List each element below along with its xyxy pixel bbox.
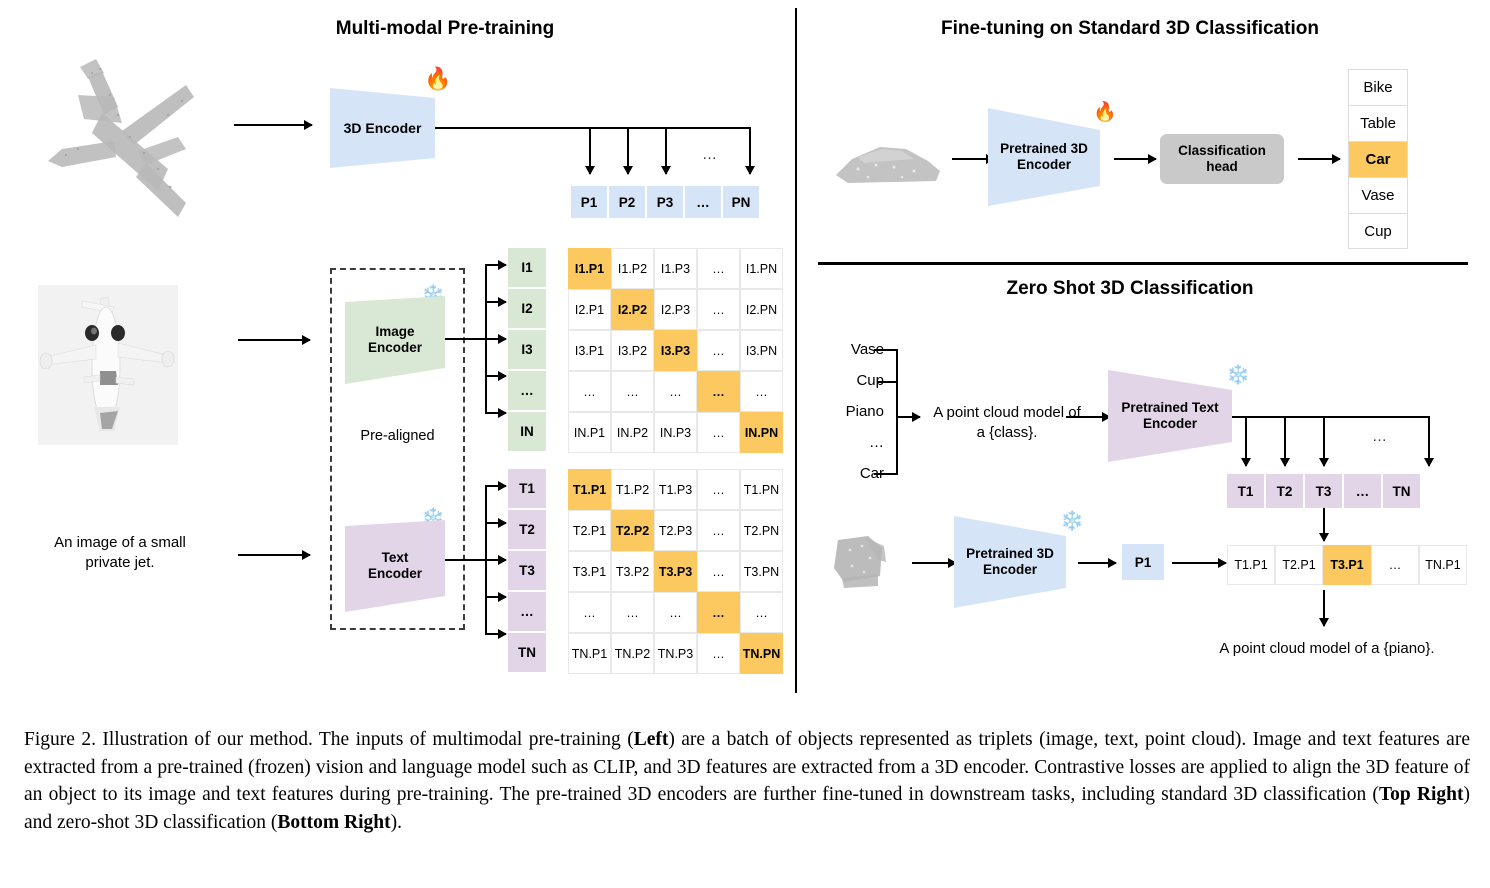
matrix-cell: I1.P1: [568, 248, 611, 289]
matrix-row: I2.P1I2.P2I2.P3…I2.PN: [568, 289, 783, 330]
matrix-cell: IN.P1: [568, 412, 611, 453]
matrix-cell: T2.P3: [654, 510, 697, 551]
matrix-cell: I2.P1: [568, 289, 611, 330]
matrix-cell: IN.PN: [740, 412, 783, 453]
figure-caption: Figure 2. Illustration of our method. Th…: [24, 726, 1470, 837]
text-caption-line1: An image of a small: [54, 534, 186, 551]
point-token-row: P1P2P3…PN: [571, 186, 761, 218]
text-similarity-matrix: T1.P1T1.P2T1.P3…T1.PNT2.P1T2.P2T2.P3…T2.…: [568, 469, 783, 674]
token-cell: P3: [647, 186, 683, 218]
arrow-to-p1: [589, 127, 591, 174]
matrix-cell: …: [697, 469, 740, 510]
matrix-cell: …: [697, 412, 740, 453]
class-list: BikeTableCarVaseCup: [1348, 69, 1408, 249]
zeroshot-point-token: P1: [1122, 544, 1164, 580]
arrow-to-p3: [665, 127, 667, 174]
panel-divider-horizontal: [818, 262, 1468, 265]
arrow-zs-t2: [1284, 416, 1286, 466]
matrix-row: TN.P1TN.P2TN.P3…TN.PN: [568, 633, 783, 674]
matrix-cell: T1.P1: [568, 469, 611, 510]
token-label-cell: …: [508, 592, 546, 631]
matrix-cell: …: [740, 371, 783, 412]
fire-icon: 🔥: [424, 68, 451, 90]
matrix-cell: I1.P3: [654, 248, 697, 289]
token-cell: P2: [609, 186, 645, 218]
matrix-cell: I3.PN: [740, 330, 783, 371]
similarity-cell: TN.P1: [1419, 545, 1467, 585]
finetune-encoder-label: Pretrained 3DEncoder: [1000, 141, 1088, 172]
matrix-row: T3.P1T3.P2T3.P3…T3.PN: [568, 551, 783, 592]
text-token-column: T1T2T3…TN: [508, 469, 546, 672]
zeroshot-result: A point cloud model of a {piano}.: [1182, 640, 1472, 657]
bus-line-3d: [435, 127, 750, 129]
matrix-row: IN.P1IN.P2IN.P3…IN.PN: [568, 412, 783, 453]
prompt-line1: A point cloud model of: [933, 404, 1081, 421]
arrow-to-pn: [749, 127, 751, 174]
arrow-text-to-encoder: [238, 554, 310, 556]
text-encoder: TextEncoder: [345, 520, 445, 612]
matrix-cell: T3.PN: [740, 551, 783, 592]
matrix-cell: T1.P3: [654, 469, 697, 510]
token-label-cell: TN: [508, 633, 546, 672]
arrow-piano-to-encoder: [912, 562, 956, 564]
zeroshot-text-bus: [1230, 416, 1430, 418]
matrix-cell: I3.P3: [654, 330, 697, 371]
token-label-cell: …: [508, 371, 546, 410]
matrix-cell: …: [697, 248, 740, 289]
matrix-cell: …: [697, 633, 740, 674]
zeroshot-class-list: VaseCupPiano…Car: [828, 334, 884, 489]
arrow-pointcloud-to-encoder: [234, 124, 312, 126]
panel-title-zeroshot: Zero Shot 3D Classification: [830, 278, 1430, 300]
zeroshot-class-item: Piano: [828, 396, 884, 427]
arrow-zs-t1: [1245, 416, 1247, 466]
classification-head-label: Classificationhead: [1178, 143, 1266, 175]
matrix-cell: I3.P1: [568, 330, 611, 371]
panel-divider-vertical: [795, 8, 797, 693]
zeroshot-similarity-row: T1.P1T2.P1T3.P1…TN.P1: [1227, 545, 1467, 585]
matrix-cell: …: [697, 592, 740, 633]
prompt-line2: a {class}.: [977, 424, 1038, 441]
matrix-cell: …: [611, 371, 654, 412]
matrix-row: T1.P1T1.P2T1.P3…T1.PN: [568, 469, 783, 510]
ellipsis-p-arrows: …: [702, 146, 718, 163]
matrix-row: ……………: [568, 592, 783, 633]
caption-part-4: ).: [391, 812, 402, 833]
token-label-cell: I3: [508, 330, 546, 369]
airplane-point-cloud: [18, 45, 233, 235]
matrix-cell: …: [697, 330, 740, 371]
arrow-t1: [485, 485, 506, 487]
matrix-cell: …: [568, 592, 611, 633]
fanout-image-stem: [445, 338, 487, 340]
token-label-cell: T2: [508, 510, 546, 549]
token-cell: T2: [1266, 474, 1303, 508]
matrix-cell: …: [697, 510, 740, 551]
matrix-cell: …: [697, 371, 740, 412]
matrix-cell: I2.PN: [740, 289, 783, 330]
class-bracket-mid: [878, 381, 898, 383]
zeroshot-3d-encoder-label: Pretrained 3DEncoder: [966, 546, 1054, 577]
arrow-t3-to-similarity: [1323, 508, 1325, 541]
matrix-cell: IN.P2: [611, 412, 654, 453]
fanout-text-stem: [445, 559, 487, 561]
class-item[interactable]: Cup: [1348, 213, 1408, 249]
matrix-cell: TN.P3: [654, 633, 697, 674]
arrow-in: [485, 412, 506, 414]
similarity-cell-selected: T3.P1: [1323, 545, 1371, 585]
token-cell: PN: [723, 186, 759, 218]
arrow-to-p2: [627, 127, 629, 174]
class-item[interactable]: Bike: [1348, 69, 1408, 105]
matrix-cell: I1.PN: [740, 248, 783, 289]
arrow-t2: [485, 522, 506, 524]
ellipsis-zs-arrows: …: [1372, 428, 1388, 445]
matrix-cell: T3.P3: [654, 551, 697, 592]
arrow-zs-t3: [1323, 416, 1325, 466]
arrow-i1: [485, 264, 506, 266]
matrix-cell: IN.P3: [654, 412, 697, 453]
prealigned-label: Pre-aligned: [330, 428, 465, 444]
similarity-cell: T1.P1: [1227, 545, 1275, 585]
matrix-row: I3.P1I3.P2I3.P3…I3.PN: [568, 330, 783, 371]
text-encoder-label: TextEncoder: [368, 550, 422, 581]
matrix-cell: T2.P1: [568, 510, 611, 551]
class-bracket-top: [874, 349, 898, 351]
matrix-cell: T3.P2: [611, 551, 654, 592]
car-point-cloud: [828, 135, 948, 195]
jet-image: [38, 285, 178, 445]
image-encoder: ImageEncoder: [345, 296, 445, 384]
panel-title-finetuning: Fine-tuning on Standard 3D Classificatio…: [830, 18, 1430, 40]
token-cell: P1: [571, 186, 607, 218]
classification-head: Classificationhead: [1160, 134, 1284, 184]
encoder-3d-label: 3D Encoder: [344, 120, 422, 136]
matrix-cell: …: [611, 592, 654, 633]
matrix-cell: T1.PN: [740, 469, 783, 510]
piano-point-cloud: [822, 528, 908, 592]
arrow-head-to-classes: [1298, 158, 1340, 160]
matrix-row: T2.P1T2.P2T2.P3…T2.PN: [568, 510, 783, 551]
arrow-encoder-to-head: [1114, 158, 1156, 160]
panel-title-pretraining: Multi-modal Pre-training: [230, 18, 660, 40]
zeroshot-text-encoder-label: Pretrained TextEncoder: [1121, 400, 1218, 431]
token-label-cell: T1: [508, 469, 546, 508]
image-similarity-matrix: I1.P1I1.P2I1.P3…I1.PNI2.P1I2.P2I2.P3…I2.…: [568, 248, 783, 453]
arrow-zs-tn: [1428, 416, 1430, 466]
token-cell: T3: [1305, 474, 1342, 508]
prompt-template: A point cloud model of a {class}.: [912, 403, 1102, 442]
image-encoder-label: ImageEncoder: [368, 324, 422, 355]
token-label-cell: IN: [508, 412, 546, 451]
text-caption-input: An image of a small private jet.: [30, 533, 210, 572]
matrix-row: I1.P1I1.P2I1.P3…I1.PN: [568, 248, 783, 289]
class-item[interactable]: Table: [1348, 105, 1408, 141]
class-item[interactable]: Vase: [1348, 177, 1408, 213]
matrix-cell: …: [697, 551, 740, 592]
caption-part-1: Figure 2. Illustration of our method. Th…: [24, 729, 634, 750]
text-caption-line2: private jet.: [85, 554, 154, 571]
class-item-selected[interactable]: Car: [1348, 141, 1408, 177]
arrow-t3: [485, 559, 506, 561]
matrix-row: ……………: [568, 371, 783, 412]
matrix-cell: …: [697, 289, 740, 330]
matrix-cell: I3.P2: [611, 330, 654, 371]
token-cell: TN: [1383, 474, 1420, 508]
arrow-image-to-encoder: [238, 339, 310, 341]
matrix-cell: TN.P2: [611, 633, 654, 674]
zeroshot-class-item: Cup: [828, 365, 884, 396]
arrow-p1-to-similarity: [1172, 562, 1226, 564]
matrix-cell: I2.P2: [611, 289, 654, 330]
matrix-cell: TN.P1: [568, 633, 611, 674]
matrix-cell: …: [568, 371, 611, 412]
zeroshot-text-token-row: T1T2T3…TN: [1227, 474, 1422, 508]
matrix-cell: …: [654, 371, 697, 412]
image-token-column: I1I2I3…IN: [508, 248, 546, 451]
matrix-cell: …: [740, 592, 783, 633]
arrow-idots: [485, 375, 506, 377]
token-label-cell: I2: [508, 289, 546, 328]
class-bracket-spine: [896, 349, 898, 475]
token-label-cell: T3: [508, 551, 546, 590]
similarity-cell: …: [1371, 545, 1419, 585]
token-cell: T1: [1227, 474, 1264, 508]
zeroshot-class-item: …: [828, 427, 884, 458]
matrix-cell: I1.P2: [611, 248, 654, 289]
finetune-encoder: Pretrained 3DEncoder: [988, 108, 1100, 206]
caption-emphasis-top-right: Top Right: [1379, 784, 1464, 805]
arrow-similarity-to-result: [1323, 590, 1325, 626]
matrix-cell: T3.P1: [568, 551, 611, 592]
arrow-i3: [485, 338, 506, 340]
arrow-tn: [485, 633, 506, 635]
similarity-cell: T2.P1: [1275, 545, 1323, 585]
figure-root: Multi-modal Pre-training Fine-tuning on …: [0, 0, 1490, 888]
caption-emphasis-left: Left: [634, 729, 669, 750]
arrow-encoder-to-p1: [1078, 562, 1116, 564]
matrix-cell: …: [654, 592, 697, 633]
token-label-cell: I1: [508, 248, 546, 287]
token-cell: …: [1344, 474, 1381, 508]
caption-emphasis-bottom-right: Bottom Right: [277, 812, 390, 833]
token-cell: …: [685, 186, 721, 218]
class-bracket-bottom: [874, 473, 898, 475]
arrow-prompt-to-textencoder: [1066, 416, 1110, 418]
matrix-cell: T2.P2: [611, 510, 654, 551]
zeroshot-3d-encoder: Pretrained 3DEncoder: [954, 516, 1066, 608]
encoder-3d: 3D Encoder: [330, 88, 435, 168]
matrix-cell: TN.PN: [740, 633, 783, 674]
matrix-cell: T2.PN: [740, 510, 783, 551]
arrow-i2: [485, 301, 506, 303]
matrix-cell: T1.P2: [611, 469, 654, 510]
zeroshot-text-encoder: Pretrained TextEncoder: [1108, 370, 1232, 462]
matrix-cell: I2.P3: [654, 289, 697, 330]
arrow-tdots: [485, 596, 506, 598]
